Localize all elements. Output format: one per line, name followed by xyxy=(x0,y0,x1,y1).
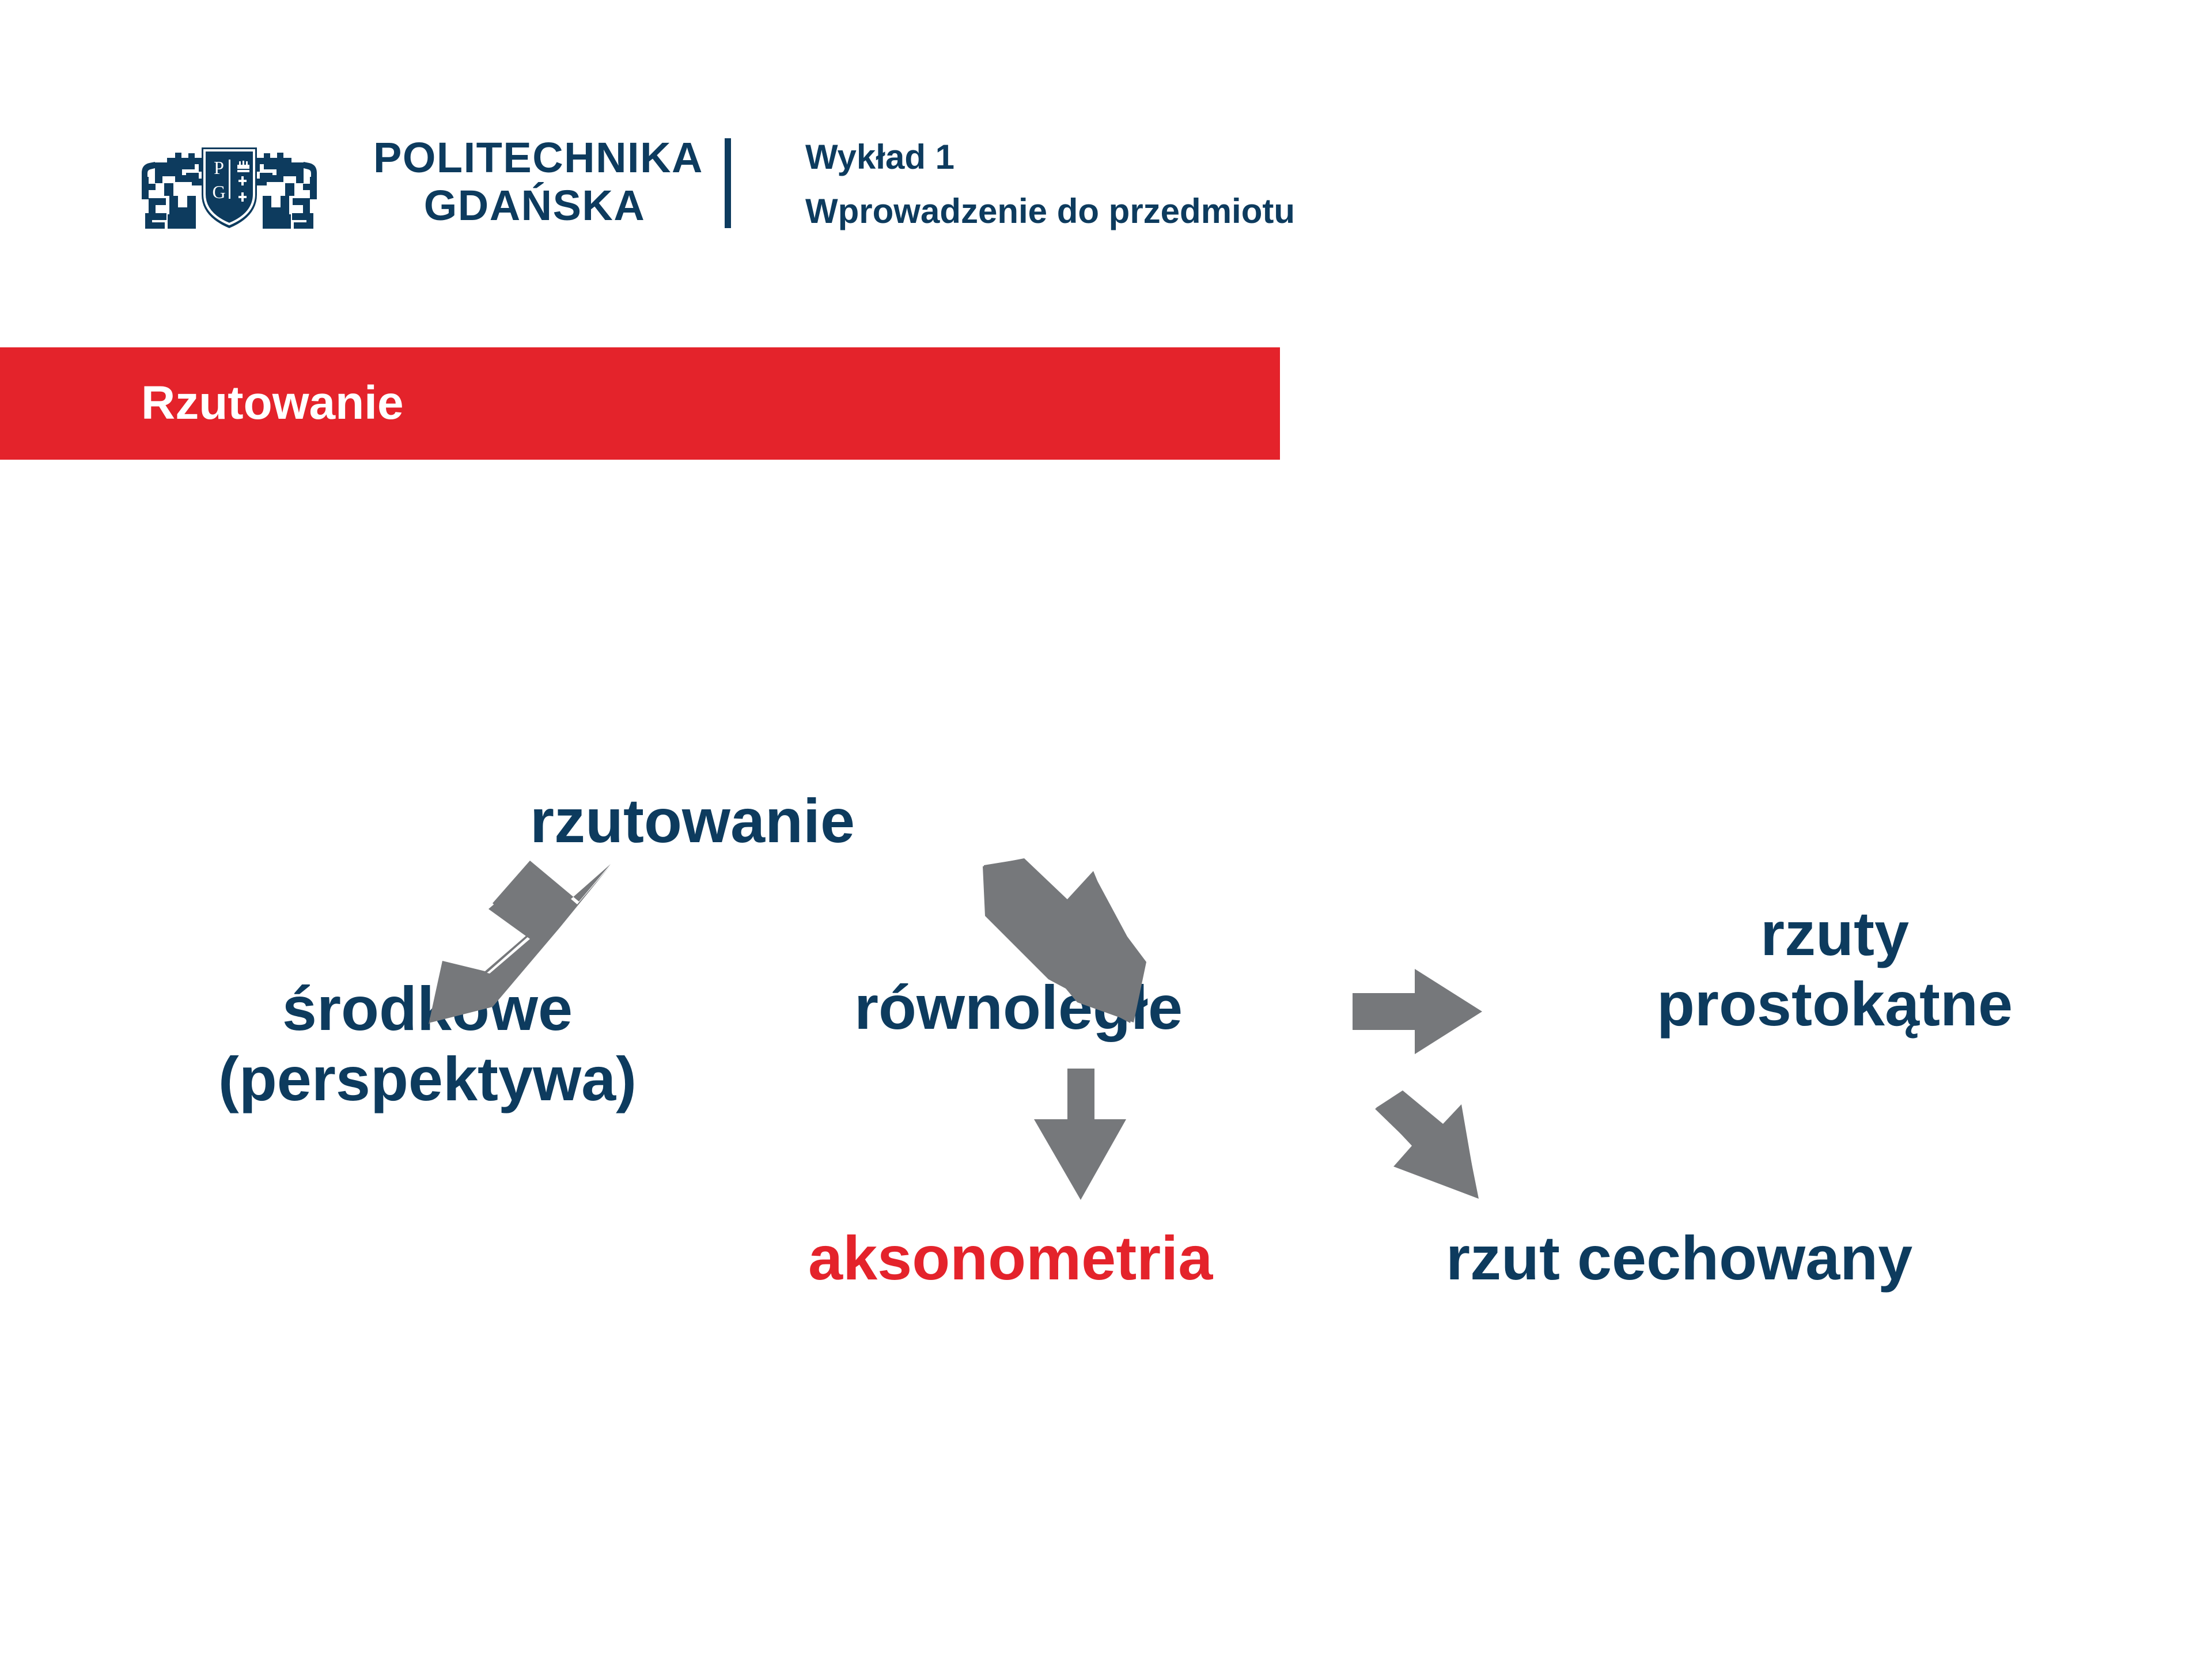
diagram-node-rzut-cechowany: rzut cechowany xyxy=(1446,1224,1912,1292)
projection-taxonomy-diagram: rzutowanie środkowe (perspektywa) równol… xyxy=(0,0,2212,1659)
arrow-down-left-icon xyxy=(421,858,611,1025)
arrow-down-icon xyxy=(1031,1069,1129,1201)
diagram-node-srodkowe-line-2: (perspektywa) xyxy=(122,1044,733,1114)
diagram-node-rzuty-line-2: prostokątne xyxy=(1503,969,2166,1039)
diagram-node-aksonometria: aksonometria xyxy=(808,1224,1213,1292)
diagram-node-rzuty-line-1: rzuty xyxy=(1503,899,2166,969)
diagram-node-rzutowanie: rzutowanie xyxy=(530,787,855,855)
arrow-down-right-diagonal-icon xyxy=(1374,1090,1489,1203)
diagram-node-rzuty-prostokatne: rzuty prostokątne xyxy=(1503,899,2166,1039)
arrow-down-right-icon xyxy=(979,858,1152,1025)
arrow-right-icon xyxy=(1353,969,1482,1055)
